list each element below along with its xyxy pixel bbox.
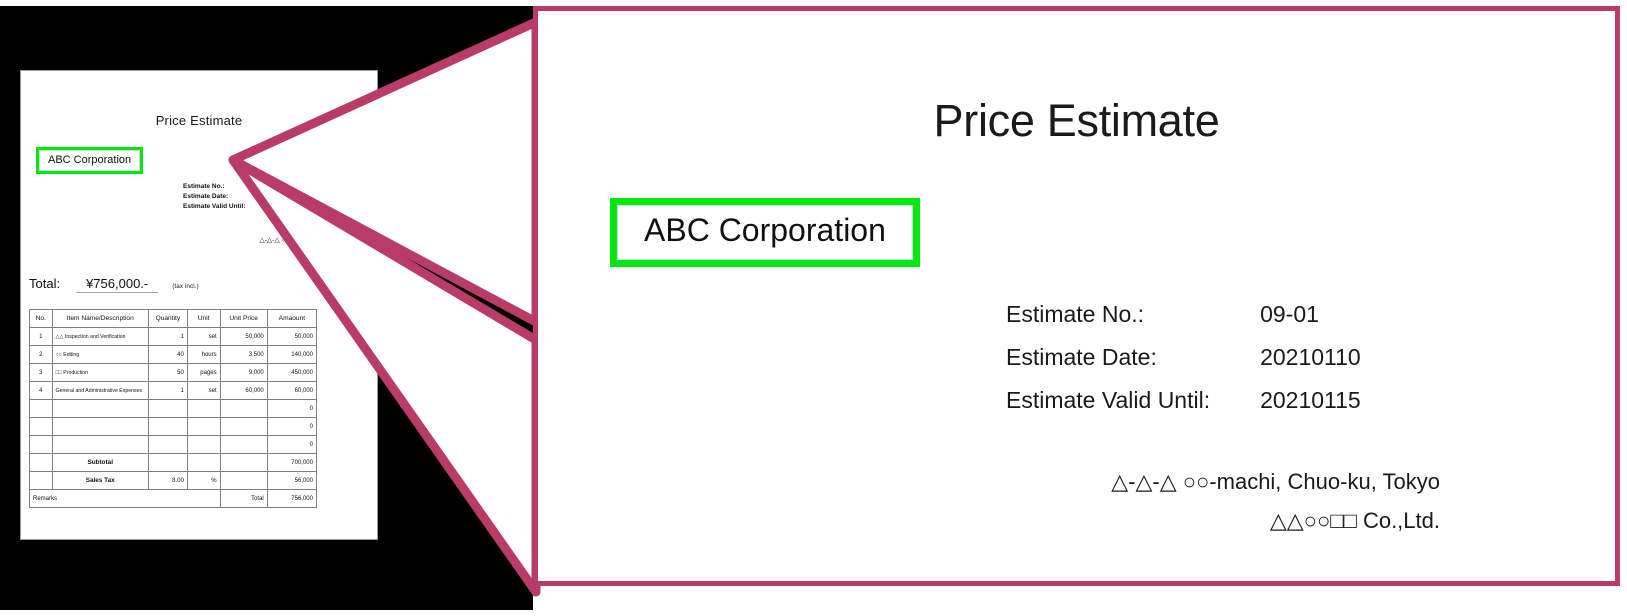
document-total-note: (tax incl.) bbox=[172, 283, 198, 290]
document-address-line: △-△-△ ○○-machi, Chuo-ku, Tokyo bbox=[259, 236, 361, 247]
document-meta-row: Estimate Date: 20210110 bbox=[183, 193, 292, 203]
magnified-company-name: ABC Corporation bbox=[617, 205, 913, 260]
document-total-value: ¥756,000.- bbox=[76, 276, 158, 293]
cell-item: ○○ Editing bbox=[52, 346, 148, 364]
document-meta-row: Estimate Valid Until: 20210115 bbox=[183, 203, 292, 213]
document-meta-label: Estimate Date: bbox=[183, 193, 246, 203]
table-remarks-row: Remarks Total 756,000 bbox=[30, 490, 317, 508]
cell-blank bbox=[30, 472, 53, 490]
magnified-address-line: △-△-△ ○○-machi, Chuo-ku, Tokyo bbox=[1111, 463, 1440, 502]
document-title: Price Estimate bbox=[21, 113, 377, 128]
magnified-meta-row: Estimate No.: 09-01 bbox=[1006, 301, 1361, 344]
salestax-price bbox=[220, 472, 267, 490]
magnified-company-highlight: ABC Corporation bbox=[610, 198, 920, 267]
cell-amount: 450,000 bbox=[267, 364, 316, 382]
cell-price bbox=[220, 436, 267, 454]
magnified-meta-value: 20210115 bbox=[1210, 387, 1361, 430]
cell-item bbox=[52, 400, 148, 418]
cell-no bbox=[30, 418, 53, 436]
cell-price: 50,000 bbox=[220, 328, 267, 346]
cell-no: 1 bbox=[30, 328, 53, 346]
magnified-meta-row: Estimate Date: 20210110 bbox=[1006, 344, 1361, 387]
table-header-row: No. Item Name/Description Quantity Unit … bbox=[30, 310, 317, 328]
cell-item: General and Administrative Expenses bbox=[52, 382, 148, 400]
table-row: 4 General and Administrative Expenses 1 … bbox=[30, 382, 317, 400]
magnified-meta-value: 09-01 bbox=[1210, 301, 1361, 344]
cell-amount: 0 bbox=[267, 418, 316, 436]
document-address-line: △△○○□□ Co.,Ltd. bbox=[259, 247, 361, 258]
subtotal-unit bbox=[187, 454, 220, 472]
table-header-cell: Quantity bbox=[148, 310, 187, 328]
table-header-cell: Unit Price bbox=[220, 310, 267, 328]
magnified-meta-label: Estimate No.: bbox=[1006, 301, 1210, 344]
cell-unit bbox=[187, 436, 220, 454]
magnified-meta-label: Estimate Valid Until: bbox=[1006, 387, 1210, 430]
table-row: 0 bbox=[30, 418, 317, 436]
document-meta-value: 20210110 bbox=[246, 193, 292, 203]
salestax-amount: 56,000 bbox=[267, 472, 316, 490]
cell-amount: 60,000 bbox=[267, 382, 316, 400]
cell-amount: 140,000 bbox=[267, 346, 316, 364]
cell-unit bbox=[187, 418, 220, 436]
table-header-cell: Amaount bbox=[267, 310, 316, 328]
document-company-highlight: ABC Corporation bbox=[36, 147, 143, 174]
cell-qty: 40 bbox=[148, 346, 187, 364]
magnified-address-line: △△○○□□ Co.,Ltd. bbox=[1111, 502, 1440, 541]
magnified-meta-label: Estimate Date: bbox=[1006, 344, 1210, 387]
cell-qty: 1 bbox=[148, 328, 187, 346]
magnified-meta-value: 20210110 bbox=[1210, 344, 1361, 387]
table-row: 2 ○○ Editing 40 hours 3,500 140,000 bbox=[30, 346, 317, 364]
table-row: 3 □□ Production 50 pages 9,000 450,000 bbox=[30, 364, 317, 382]
subtotal-label: Subtotal bbox=[52, 454, 148, 472]
remarks-total-amount: 756,000 bbox=[267, 490, 316, 508]
cell-amount: 0 bbox=[267, 436, 316, 454]
magnified-title: Price Estimate bbox=[538, 95, 1615, 147]
magnified-address-block: △-△-△ ○○-machi, Chuo-ku, Tokyo △△○○□□ Co… bbox=[1111, 463, 1440, 540]
cell-item: △△ Inspection and Verification bbox=[52, 328, 148, 346]
estimate-line-items-table: No. Item Name/Description Quantity Unit … bbox=[29, 309, 317, 508]
cell-item bbox=[52, 436, 148, 454]
document-company-name: ABC Corporation bbox=[39, 150, 140, 171]
cell-no: 2 bbox=[30, 346, 53, 364]
salestax-unit: % bbox=[187, 472, 220, 490]
document-meta-row: Estimate No.: bbox=[183, 183, 292, 193]
cell-item bbox=[52, 418, 148, 436]
cell-item: □□ Production bbox=[52, 364, 148, 382]
remarks-total-label: Total bbox=[220, 490, 267, 508]
cell-qty: 50 bbox=[148, 364, 187, 382]
cell-amount: 50,000 bbox=[267, 328, 316, 346]
cell-unit: set bbox=[187, 328, 220, 346]
table-header-cell: No. bbox=[30, 310, 53, 328]
cell-no bbox=[30, 436, 53, 454]
document-meta-label: Estimate Valid Until: bbox=[183, 203, 246, 213]
magnified-meta-block: Estimate No.: 09-01 Estimate Date: 20210… bbox=[1006, 301, 1361, 430]
cell-price: 3,500 bbox=[220, 346, 267, 364]
cell-no: 3 bbox=[30, 364, 53, 382]
subtotal-qty bbox=[148, 454, 187, 472]
cell-no: 4 bbox=[30, 382, 53, 400]
table-header-cell: Item Name/Description bbox=[52, 310, 148, 328]
cell-price: 60,000 bbox=[220, 382, 267, 400]
screenshot-root: Price Estimate ABC Corporation Estimate … bbox=[0, 0, 1627, 616]
salestax-label: Sales Tax bbox=[52, 472, 148, 490]
document-meta-block: Estimate No.: Estimate Date: 20210110 Es… bbox=[183, 183, 292, 213]
cell-blank bbox=[30, 454, 53, 472]
salestax-qty: 8.00 bbox=[148, 472, 187, 490]
estimate-document-page: Price Estimate ABC Corporation Estimate … bbox=[20, 70, 378, 540]
document-meta-value: 20210115 bbox=[246, 203, 292, 213]
table-header-cell: Unit bbox=[187, 310, 220, 328]
subtotal-amount: 700,000 bbox=[267, 454, 316, 472]
cell-price bbox=[220, 400, 267, 418]
cell-qty bbox=[148, 418, 187, 436]
magnified-detail-panel: Price Estimate ABC Corporation Estimate … bbox=[533, 6, 1620, 586]
document-meta-value bbox=[246, 183, 292, 193]
document-meta-label: Estimate No.: bbox=[183, 183, 246, 193]
remarks-label: Remarks bbox=[30, 490, 221, 508]
cell-no bbox=[30, 400, 53, 418]
cell-unit: pages bbox=[187, 364, 220, 382]
table-subtotal-row: Subtotal 700,000 bbox=[30, 454, 317, 472]
cell-qty: 1 bbox=[148, 382, 187, 400]
document-total-row: Total: ¥756,000.- (tax incl.) bbox=[29, 276, 199, 293]
cell-price: 9,000 bbox=[220, 364, 267, 382]
table-row: 0 bbox=[30, 400, 317, 418]
cell-unit bbox=[187, 400, 220, 418]
document-total-label: Total: bbox=[29, 276, 60, 291]
magnified-meta-row: Estimate Valid Until: 20210115 bbox=[1006, 387, 1361, 430]
cell-qty bbox=[148, 436, 187, 454]
cell-unit: hours bbox=[187, 346, 220, 364]
cell-qty bbox=[148, 400, 187, 418]
cell-unit: set bbox=[187, 382, 220, 400]
table-salestax-row: Sales Tax 8.00 % 56,000 bbox=[30, 472, 317, 490]
subtotal-price bbox=[220, 454, 267, 472]
document-address-block: △-△-△ ○○-machi, Chuo-ku, Tokyo △△○○□□ Co… bbox=[259, 236, 361, 257]
cell-price bbox=[220, 418, 267, 436]
cell-amount: 0 bbox=[267, 400, 316, 418]
table-row: 1 △△ Inspection and Verification 1 set 5… bbox=[30, 328, 317, 346]
table-row: 0 bbox=[30, 436, 317, 454]
